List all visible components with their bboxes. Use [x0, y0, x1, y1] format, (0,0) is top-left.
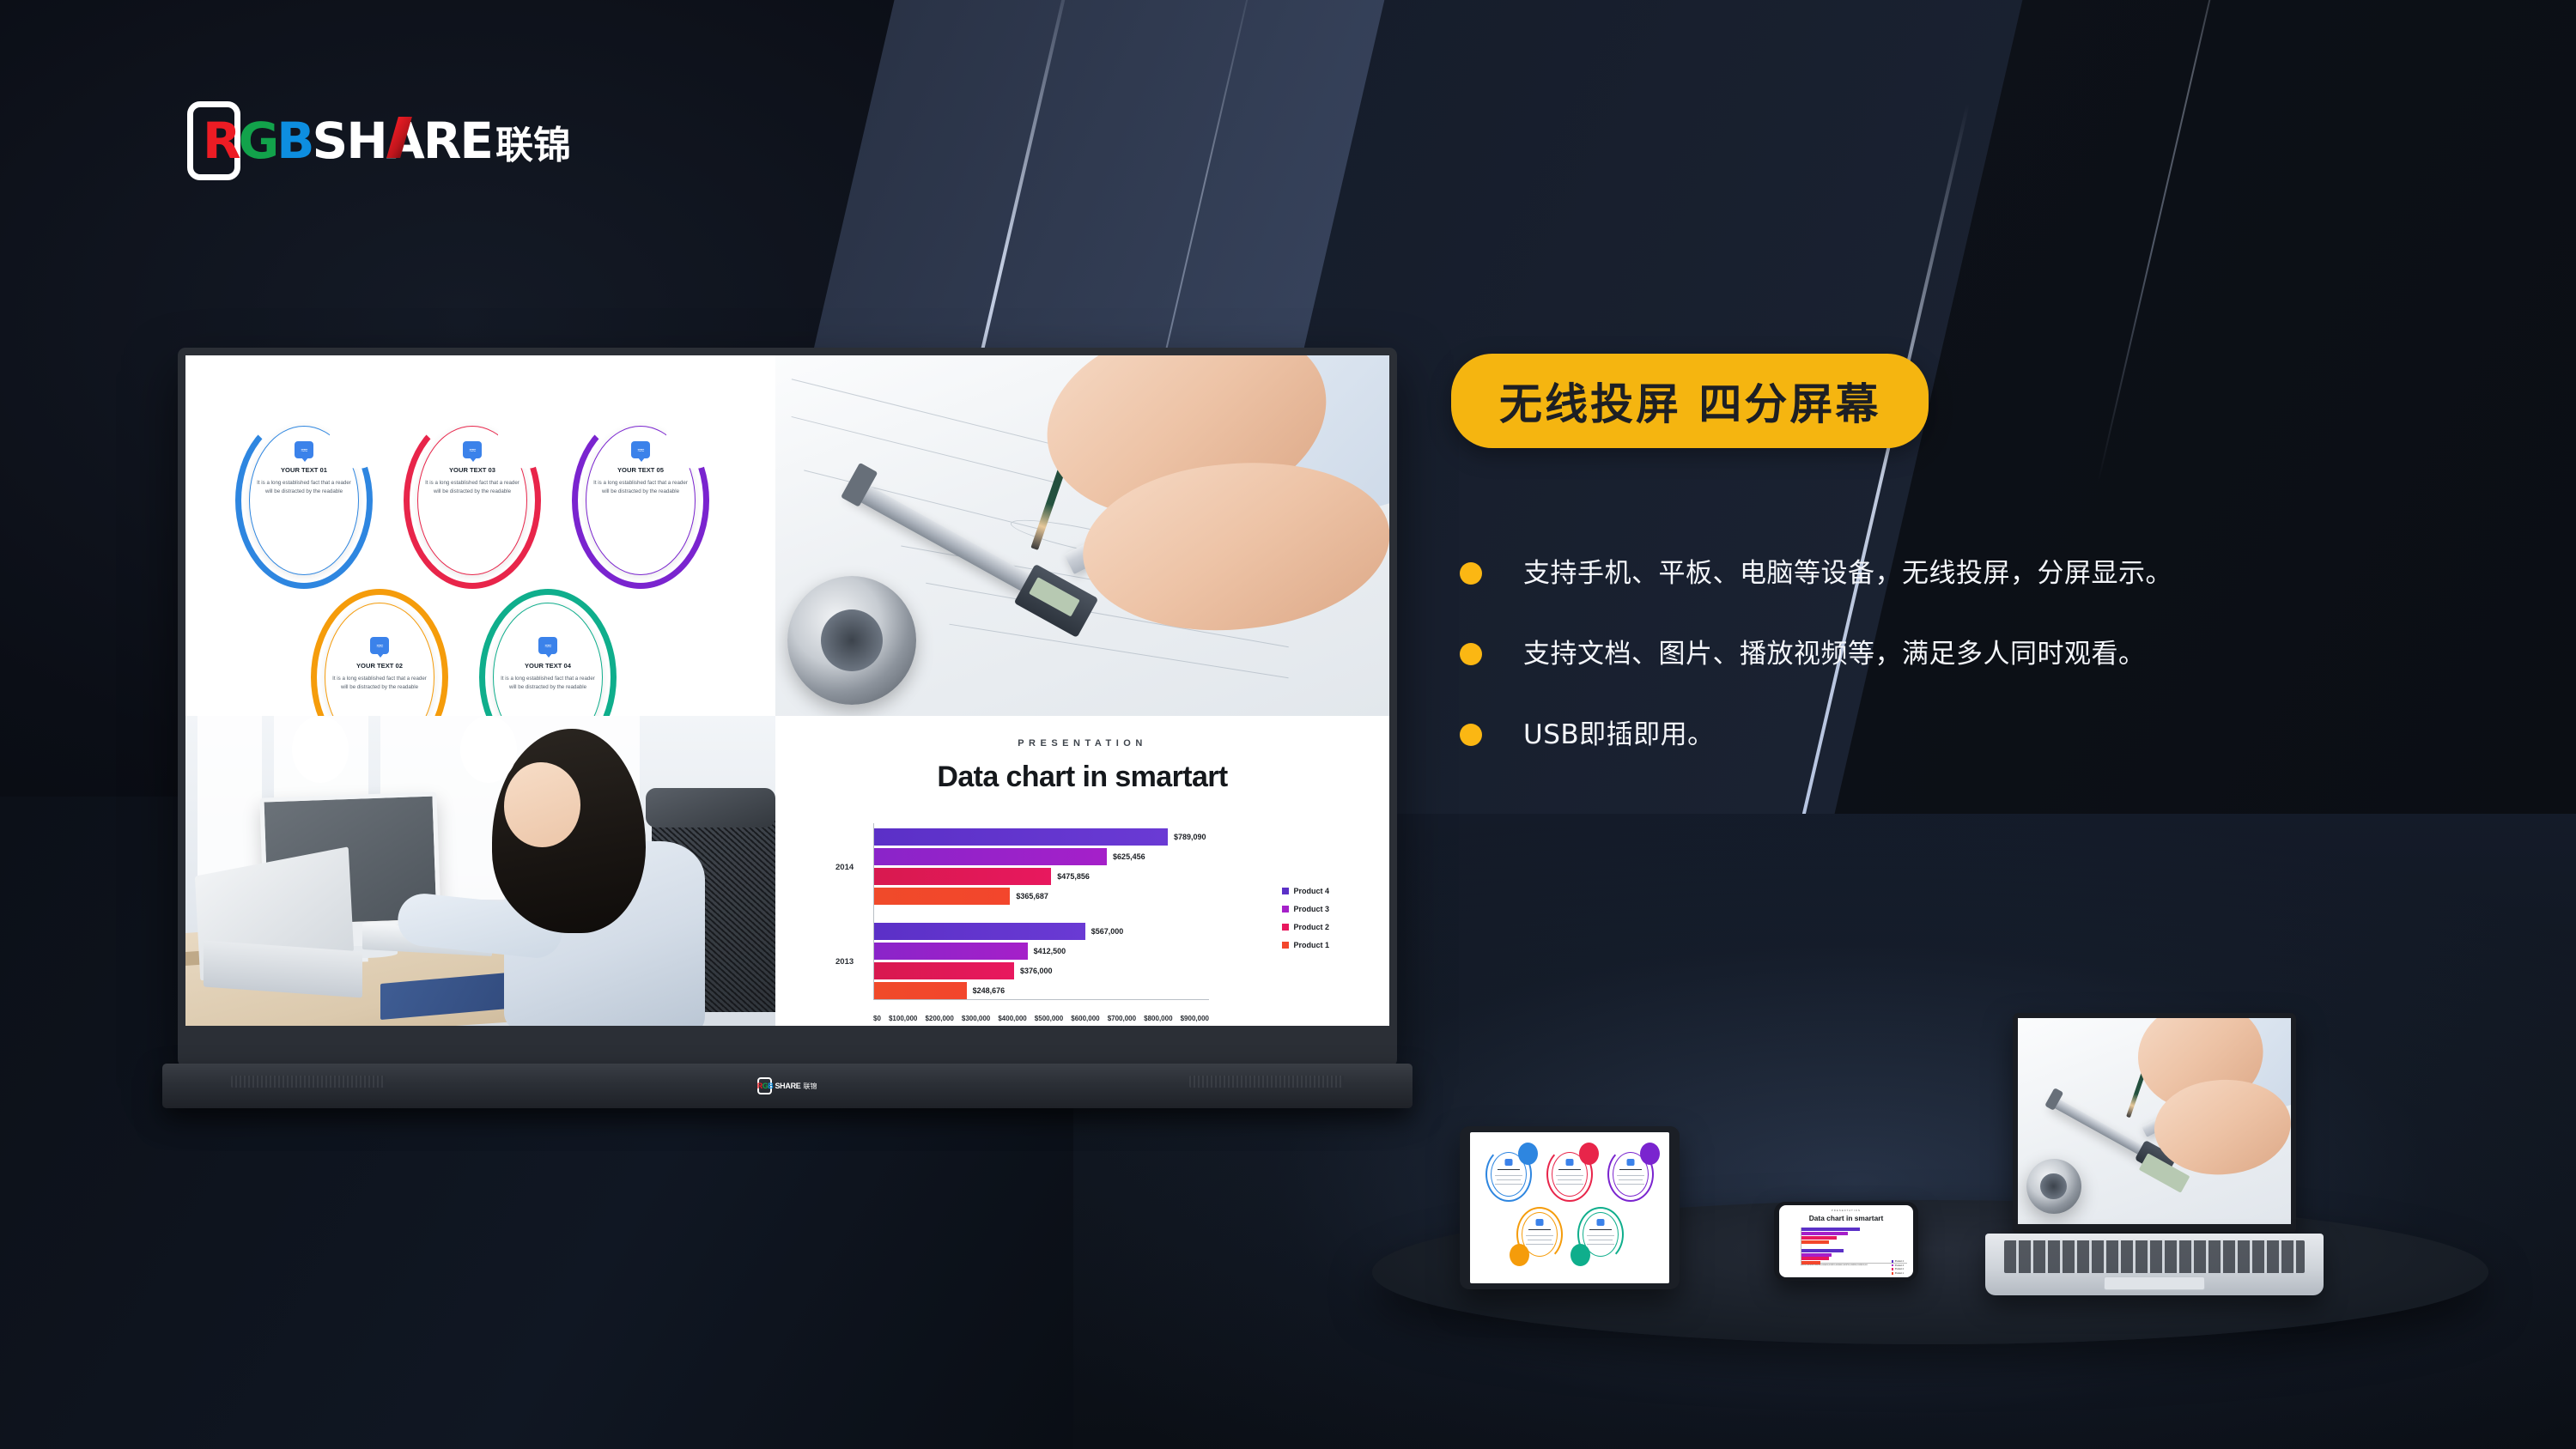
- laptop-base: [1985, 1234, 2324, 1295]
- message-icon: ≈≈: [538, 637, 557, 654]
- tablet-infographic: [1470, 1132, 1669, 1283]
- feature-text: USB即插即用。: [1523, 718, 1715, 754]
- step-description: It is a long established fact that a rea…: [328, 675, 431, 691]
- chart-legend-swatch: [1282, 906, 1289, 912]
- step-badge: STEP 03: [498, 402, 555, 469]
- step-badge-number: 01: [353, 435, 362, 446]
- chart-bar-row: $475,856: [874, 868, 1209, 885]
- logo-letter-g: G: [239, 112, 277, 170]
- brand-logo: RGB SHARE 联锦: [187, 101, 571, 180]
- chart-category-label: 2014: [835, 863, 854, 872]
- office-chair-headrest: [646, 788, 775, 828]
- tablet-step-desc-line: [1587, 1235, 1614, 1236]
- logo-wordmark: RGB SHARE 联锦: [203, 112, 571, 170]
- chart-x-tick: $400,000: [998, 1015, 1026, 1022]
- laptop-bearing: [2026, 1159, 2081, 1214]
- chart-bar-row: $412,500: [874, 943, 1209, 960]
- chart-legend-label: Product 4: [1293, 887, 1329, 895]
- phone-chart-bar: [1801, 1228, 1860, 1231]
- step-badge: STEP 04: [460, 716, 517, 783]
- ball-bearing: [787, 576, 916, 705]
- chart-bar: $789,090: [874, 828, 1168, 846]
- step-title: YOUR TEXT 03: [421, 466, 524, 474]
- bezel-logo-frame-icon: RGB: [757, 1077, 772, 1094]
- chart-x-tick: $500,000: [1035, 1015, 1063, 1022]
- chart-bar-label: $365,687: [1016, 892, 1048, 900]
- message-icon: ≈≈: [463, 441, 482, 458]
- tablet-step-unit: [1571, 1201, 1630, 1268]
- tablet-step-desc-line: [1587, 1244, 1614, 1245]
- phone-legend-swatch: [1892, 1268, 1894, 1270]
- chart-x-tick: $100,000: [889, 1015, 917, 1022]
- phone-legend-swatch: [1892, 1260, 1894, 1263]
- chart-kicker: PRESENTATION: [801, 738, 1364, 749]
- speaker-grille-left: [231, 1076, 386, 1088]
- message-icon: ≈≈: [370, 637, 389, 654]
- step-description: It is a long established fact that a rea…: [421, 479, 524, 495]
- phone-chart-kicker: PRESENTATION: [1785, 1210, 1907, 1212]
- chart-bar-row: $625,456: [874, 848, 1209, 865]
- tablet-step-desc-line: [1589, 1240, 1613, 1240]
- tablet-step-desc-line: [1528, 1240, 1552, 1240]
- phone-chart-slide: PRESENTATION Data chart in smartart Prod…: [1779, 1205, 1913, 1277]
- tablet-step-desc-line: [1526, 1244, 1553, 1245]
- chart-group-2014: $789,090 $625,456 $475,856: [874, 828, 1209, 907]
- tablet-step-desc-line: [1526, 1235, 1553, 1236]
- bullet-dot-icon: [1460, 643, 1482, 665]
- tablet-step-title-line: [1619, 1169, 1642, 1170]
- phone-chart-legend: Product 4 Product 3 Product 2 Product 1: [1892, 1260, 1904, 1276]
- tablet-step-unit: [1510, 1201, 1569, 1268]
- laptop-lid: [2013, 1013, 2296, 1232]
- message-icon: ≈≈: [631, 441, 650, 458]
- phone-legend-label: Product 3: [1895, 1264, 1904, 1267]
- laptop-keyboard-keys: [2004, 1240, 2305, 1273]
- chart-x-tick: $300,000: [962, 1015, 990, 1022]
- chart-bar: $567,000: [874, 923, 1085, 940]
- chart-legend-label: Product 2: [1293, 923, 1329, 931]
- bezel-logo-chinese: 联锦: [804, 1082, 817, 1091]
- tablet-message-icon: [1596, 1219, 1604, 1226]
- chart-bar-row: $365,687: [874, 888, 1209, 905]
- laptop-trackpad[interactable]: [2104, 1276, 2205, 1290]
- chart-legend-item: Product 3: [1282, 905, 1329, 913]
- tablet-step-desc-line: [1497, 1179, 1521, 1180]
- step-description: It is a long established fact that a rea…: [589, 479, 692, 495]
- feature-item: USB即插即用。: [1460, 718, 2473, 754]
- message-icon: ≈≈: [295, 441, 313, 458]
- poster-canvas: RGB SHARE 联锦 STEP: [0, 0, 2576, 1449]
- phone-x-tick: $700,000: [1846, 1264, 1853, 1266]
- phone-legend-swatch: [1892, 1272, 1894, 1275]
- quadrant-engineering-photo: [775, 355, 1389, 716]
- chart-legend-swatch: [1282, 888, 1289, 894]
- chart-bar-row: $248,676: [874, 982, 1209, 999]
- chart-bar-label: $789,090: [1174, 833, 1206, 841]
- logo-rgb-letters: RGB: [203, 112, 313, 170]
- tablet-step-desc-line: [1556, 1184, 1583, 1185]
- chart-title: Data chart in smartart: [801, 761, 1364, 794]
- chart-x-tick: $600,000: [1071, 1015, 1099, 1022]
- phone-chart-bar: [1801, 1232, 1848, 1235]
- chart-bar: $412,500: [874, 943, 1028, 960]
- chart-x-axis: $0 $100,000 $200,000 $300,000 $400,000 $…: [873, 1015, 1209, 1022]
- phone-legend-swatch: [1892, 1264, 1894, 1267]
- tablet-step-unit: [1540, 1141, 1599, 1208]
- phone-legend-label: Product 1: [1895, 1272, 1904, 1275]
- phone-legend-item: Product 3: [1892, 1264, 1904, 1267]
- monitor-bezel-logo: RGB SHARE 联锦: [757, 1077, 817, 1094]
- phone-device: PRESENTATION Data chart in smartart Prod…: [1774, 1202, 1918, 1281]
- phone-legend-label: Product 4: [1895, 1260, 1904, 1263]
- chart-legend-swatch: [1282, 942, 1289, 949]
- phone-x-tick: $600,000: [1838, 1264, 1845, 1266]
- bullet-dot-icon: [1460, 562, 1482, 585]
- bullet-dot-icon: [1460, 724, 1482, 746]
- headline-badge-text: 无线投屏 四分屏幕: [1499, 370, 1880, 432]
- chart-bar: $376,000: [874, 962, 1014, 979]
- chart-bar-label: $567,000: [1091, 927, 1124, 936]
- chart-legend: Product 4 Product 3 Product 2 Produ: [1282, 887, 1329, 959]
- phone-screen: PRESENTATION Data chart in smartart Prod…: [1779, 1205, 1913, 1277]
- phone-legend-item: Product 2: [1892, 1268, 1904, 1270]
- tablet-step-badge: [1579, 1143, 1599, 1165]
- phone-chart-plot: Product 4 Product 3 Product 2 Product 1: [1801, 1228, 1907, 1264]
- feature-text: 支持文档、图片、播放视频等，满足多人同时观看。: [1523, 637, 2146, 673]
- tablet-step-badge: [1518, 1143, 1538, 1165]
- tablet-step-badge: [1571, 1244, 1590, 1266]
- chart-legend-item: Product 4: [1282, 887, 1329, 895]
- phone-legend-item: Product 1: [1892, 1272, 1904, 1275]
- monitor-screen: STEP 01 ≈≈ YOUR TEXT 01 It is a long est…: [185, 355, 1389, 1026]
- chart-bar: $365,687: [874, 888, 1010, 905]
- person-face: [504, 762, 580, 848]
- step-badge-number: 04: [483, 749, 493, 760]
- step-title: YOUR TEXT 05: [589, 466, 692, 474]
- tablet-message-icon: [1535, 1219, 1543, 1226]
- tablet-step-unit: [1601, 1141, 1660, 1208]
- tablet-step-title-line: [1528, 1229, 1551, 1230]
- phone-chart-bar: [1801, 1253, 1832, 1257]
- step-badge: STEP 05: [666, 402, 723, 469]
- tablet-screen: [1470, 1132, 1669, 1283]
- monitor-bezel-chin: RGB SHARE 联锦: [162, 1064, 1413, 1108]
- chart-plot-area: 2014 2013 $789,090 $625,456: [801, 823, 1364, 1026]
- phone-chart-bar: [1801, 1261, 1820, 1264]
- quadrant-chart-slide: PRESENTATION Data chart in smartart 2014…: [775, 716, 1389, 1026]
- quadrant-infographic: STEP 01 ≈≈ YOUR TEXT 01 It is a long est…: [185, 355, 775, 716]
- tablet-message-icon: [1627, 1159, 1635, 1166]
- chart-bar: $625,456: [874, 848, 1107, 865]
- chart-x-tick: $200,000: [925, 1015, 953, 1022]
- laptop-device: [1985, 1013, 2324, 1296]
- step-title: YOUR TEXT 02: [328, 662, 431, 670]
- phone-chart-bar: [1801, 1257, 1829, 1260]
- phone-legend-label: Product 2: [1895, 1268, 1904, 1270]
- phone-legend-item: Product 4: [1892, 1260, 1904, 1263]
- feature-text: 支持手机、平板、电脑等设备，无线投屏，分屏显示。: [1523, 556, 2172, 592]
- tablet-device: [1460, 1126, 1680, 1289]
- tablet-step-desc-line: [1556, 1175, 1583, 1176]
- tablet-step-desc-line: [1617, 1175, 1644, 1176]
- step-badge-label: STEP: [347, 425, 369, 435]
- step-badge-label: STEP: [309, 739, 331, 749]
- step-badge-label: STEP: [515, 425, 538, 435]
- step-description: It is a long established fact that a rea…: [252, 479, 355, 495]
- step-title: YOUR TEXT 01: [252, 466, 355, 474]
- display-monitor: STEP 01 ≈≈ YOUR TEXT 01 It is a long est…: [178, 348, 1397, 1067]
- tablet-steps-row-top: [1475, 1141, 1664, 1208]
- chart-bar-label: $475,856: [1057, 872, 1090, 881]
- tablet-step-title-line: [1558, 1169, 1581, 1170]
- logo-letter-b: B: [276, 112, 312, 170]
- tablet-step-desc-line: [1619, 1179, 1643, 1180]
- bezel-logo-share: SHARE: [775, 1082, 800, 1090]
- step-badge-label: STEP: [477, 739, 500, 749]
- tablet-step-badge: [1510, 1244, 1529, 1266]
- phone-x-tick: $500,000: [1832, 1264, 1838, 1266]
- tablet-step-desc-line: [1558, 1179, 1582, 1180]
- tablet-step-title-line: [1498, 1169, 1520, 1170]
- chart-x-tick: $0: [873, 1015, 881, 1022]
- phone-chart-title: Data chart in smartart: [1785, 1214, 1907, 1222]
- logo-share-text: SHARE: [313, 112, 492, 170]
- tablet-message-icon: [1566, 1159, 1574, 1166]
- chart-x-tick: $700,000: [1108, 1015, 1136, 1022]
- logo-letter-r: R: [203, 112, 239, 170]
- feature-item: 支持手机、平板、电脑等设备，无线投屏，分屏显示。: [1460, 556, 2473, 592]
- chart-bar: $248,676: [874, 982, 967, 999]
- chart-category-label: 2013: [835, 957, 854, 967]
- chart-bar-label: $248,676: [973, 986, 1005, 995]
- phone-x-tick: $800,000: [1853, 1264, 1860, 1266]
- step-badge: STEP 01: [330, 402, 386, 469]
- phone-chart-bar: [1801, 1236, 1837, 1240]
- headline-badge: 无线投屏 四分屏幕: [1451, 354, 1929, 448]
- step-badge-number: 05: [690, 435, 699, 446]
- tablet-step-desc-line: [1495, 1175, 1522, 1176]
- chart-bar-row: $789,090: [874, 828, 1209, 846]
- chart-bar: $475,856: [874, 868, 1051, 885]
- step-badge-number: 03: [521, 435, 531, 446]
- tablet-step-desc-line: [1495, 1184, 1522, 1185]
- chart-legend-item: Product 1: [1282, 941, 1329, 949]
- phone-x-tick: $400,000: [1825, 1264, 1832, 1266]
- tablet-steps-row-bottom: [1475, 1201, 1664, 1268]
- tablet-step-unit: [1479, 1141, 1538, 1208]
- step-badge: STEP 02: [292, 716, 349, 783]
- phone-x-tick: $900,000: [1861, 1264, 1868, 1266]
- feature-item: 支持文档、图片、播放视频等，满足多人同时观看。: [1460, 637, 2473, 673]
- chart-legend-swatch: [1282, 924, 1289, 931]
- step-content: ≈≈ YOUR TEXT 04 It is a long established…: [496, 637, 599, 691]
- chart-bar-row: $376,000: [874, 962, 1209, 979]
- phone-chart-bar: [1801, 1249, 1844, 1252]
- tablet-step-badge: [1640, 1143, 1660, 1165]
- step-badge-label: STEP: [683, 425, 706, 435]
- logo-chinese-name: 联锦: [495, 114, 571, 169]
- speaker-grille-right: [1189, 1076, 1344, 1088]
- tablet-step-title-line: [1589, 1229, 1612, 1230]
- chart-legend-label: Product 1: [1293, 941, 1329, 949]
- chart-bar-label: $376,000: [1020, 967, 1053, 975]
- chart-bar-label: $625,456: [1113, 852, 1145, 861]
- chart-bar-label: $412,500: [1034, 947, 1066, 955]
- step-description: It is a long established fact that a rea…: [496, 675, 599, 691]
- phone-chart-bar: [1801, 1240, 1829, 1244]
- feature-list: 支持手机、平板、电脑等设备，无线投屏，分屏显示。 支持文档、图片、播放视频等，满…: [1460, 556, 2473, 798]
- laptop-engineering-photo: [2018, 1018, 2291, 1224]
- step-title: YOUR TEXT 04: [496, 662, 599, 670]
- chart-x-tick: $900,000: [1181, 1015, 1209, 1022]
- bezel-logo-rgb: RGB: [757, 1082, 774, 1090]
- chart-legend-item: Product 2: [1282, 923, 1329, 931]
- chart-axes: $789,090 $625,456 $475,856: [873, 823, 1209, 1000]
- chart-group-2013: $567,000 $412,500 $376,000: [874, 923, 1209, 1002]
- chart-bar-row: $567,000: [874, 923, 1209, 940]
- step-badge-number: 02: [315, 749, 325, 760]
- step-content: ≈≈ YOUR TEXT 02 It is a long established…: [328, 637, 431, 691]
- chart-legend-label: Product 3: [1293, 905, 1329, 913]
- laptop-caliper-jaw: [2044, 1088, 2063, 1111]
- tablet-message-icon: [1505, 1159, 1513, 1166]
- laptop-screen: [2018, 1018, 2291, 1224]
- tablet-step-desc-line: [1617, 1184, 1644, 1185]
- chart-x-tick: $800,000: [1144, 1015, 1172, 1022]
